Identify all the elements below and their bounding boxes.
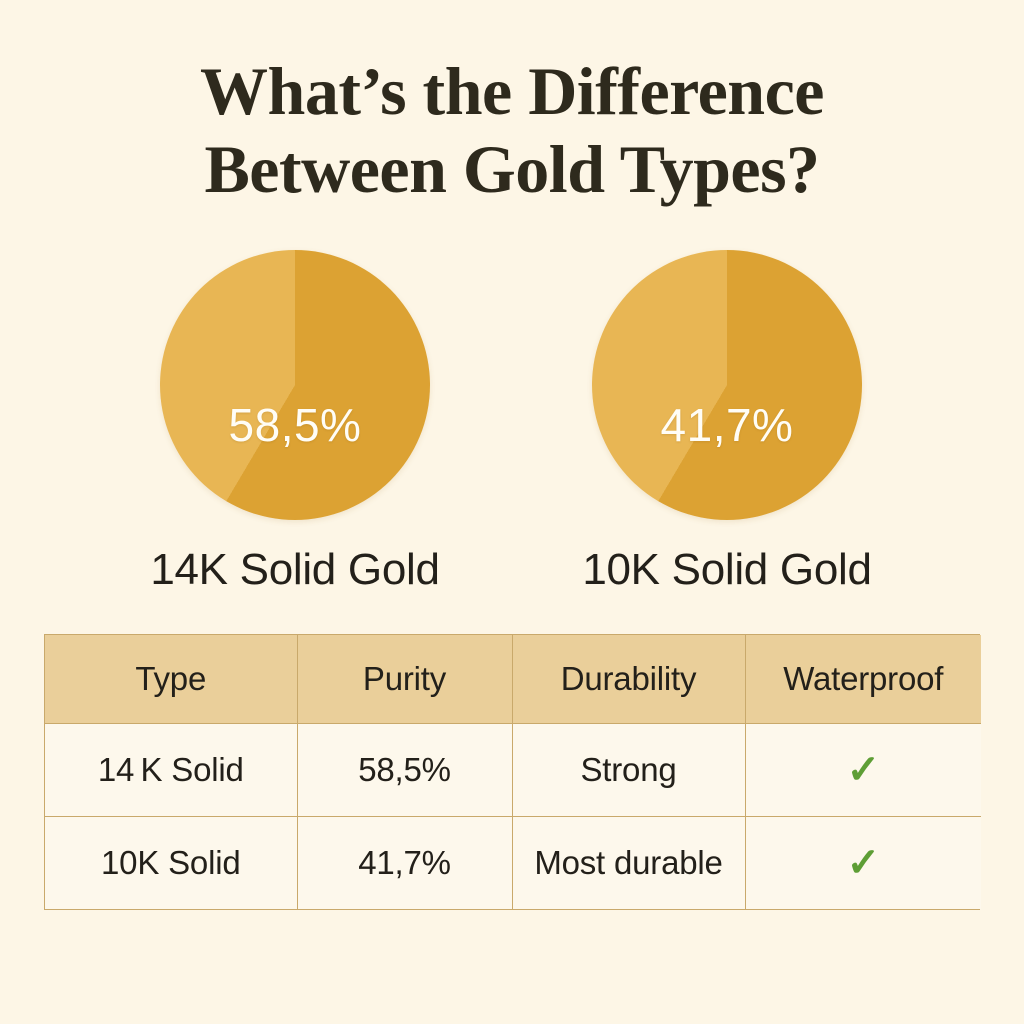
cell-durability-14k: Strong xyxy=(512,724,745,817)
title-line-1: What’s the Difference xyxy=(0,52,1024,130)
pie-charts-row: 58,5% 14K Solid Gold 41,7% 10K Solid Gol… xyxy=(0,250,1024,530)
cell-type-14k: 14 K Solid xyxy=(45,724,297,817)
chart-unit-10k: 41,7% 10K Solid Gold xyxy=(547,250,907,530)
table-row: 10K Solid 41,7% Most durable ✓ xyxy=(45,817,981,910)
comparison-table: Type Purity Durability Waterproof 14 K S… xyxy=(44,634,980,910)
column-header-purity: Purity xyxy=(297,635,512,724)
check-icon: ✓ xyxy=(847,750,880,790)
table-header-row: Type Purity Durability Waterproof xyxy=(45,635,981,724)
column-header-type: Type xyxy=(45,635,297,724)
table-row: 14 K Solid 58,5% Strong ✓ xyxy=(45,724,981,817)
page-title: What’s the Difference Between Gold Types… xyxy=(0,52,1024,208)
pie-caption-10k: 10K Solid Gold xyxy=(517,545,937,595)
chart-unit-14k: 58,5% 14K Solid Gold xyxy=(115,250,475,530)
pie-slice-label-14k: 58,5% xyxy=(160,402,430,448)
pie-chart-14k: 58,5% xyxy=(160,250,430,520)
check-icon: ✓ xyxy=(847,843,880,883)
infographic-page: What’s the Difference Between Gold Types… xyxy=(0,0,1024,1024)
pie-chart-10k: 41,7% xyxy=(592,250,862,520)
cell-durability-10k: Most durable xyxy=(512,817,745,910)
cell-type-10k: 10K Solid xyxy=(45,817,297,910)
cell-purity-10k: 41,7% xyxy=(297,817,512,910)
title-line-2: Between Gold Types? xyxy=(0,130,1024,208)
cell-waterproof-10k: ✓ xyxy=(745,817,981,910)
cell-waterproof-14k: ✓ xyxy=(745,724,981,817)
pie-caption-14k: 14K Solid Gold xyxy=(85,545,505,595)
column-header-waterproof: Waterproof xyxy=(745,635,981,724)
column-header-durability: Durability xyxy=(512,635,745,724)
cell-purity-14k: 58,5% xyxy=(297,724,512,817)
pie-slice-label-10k: 41,7% xyxy=(592,402,862,448)
